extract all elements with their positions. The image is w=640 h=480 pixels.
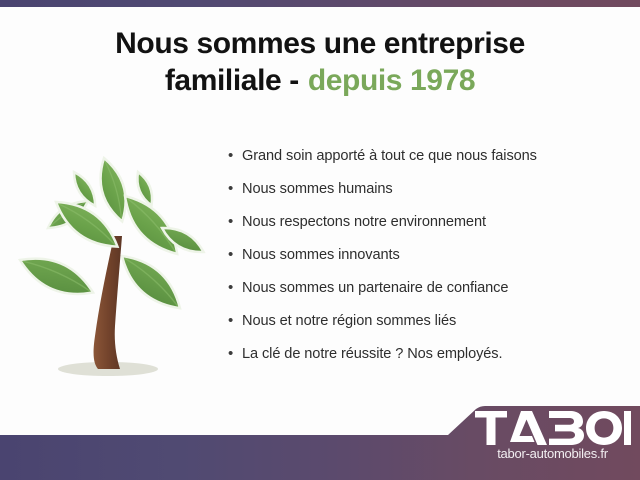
value-bullet-list: • Grand soin apporté à tout ce que nous … [228, 148, 633, 379]
list-item-label: Nous respectons notre environnement [242, 214, 486, 230]
list-item: • Nous respectons notre environnement [228, 214, 633, 247]
bullet-marker-icon: • [228, 214, 242, 229]
headline-plain-part: familiale - [165, 64, 299, 97]
bullet-marker-icon: • [228, 181, 242, 196]
logo-wordmark-tabor [470, 411, 635, 445]
list-item-label: La clé de notre réussite ? Nos employés. [242, 346, 502, 362]
list-item-label: Grand soin apporté à tout ce que nous fa… [242, 148, 537, 164]
list-item: • Nous sommes innovants [228, 247, 633, 280]
slide-canvas: Nous sommes une entreprise familiale -de… [0, 0, 640, 480]
headline-accent-part: depuis 1978 [308, 64, 475, 97]
headline-line-2: familiale -depuis 1978 [0, 63, 640, 100]
list-item-label: Nous sommes innovants [242, 247, 400, 263]
tree-illustration [12, 150, 212, 390]
page-title: Nous sommes une entreprise familiale -de… [0, 26, 640, 99]
headline-line-1: Nous sommes une entreprise [0, 26, 640, 63]
top-accent-bar [0, 0, 640, 7]
list-item-label: Nous sommes un partenaire de confiance [242, 280, 508, 296]
list-item: • Nous et notre région sommes liés [228, 313, 633, 346]
logo-domain-text: tabor-automobiles.fr [470, 446, 635, 461]
list-item-label: Nous sommes humains [242, 181, 393, 197]
list-item: • Nous sommes un partenaire de confiance [228, 280, 633, 313]
list-item: • Grand soin apporté à tout ce que nous … [228, 148, 633, 181]
bullet-marker-icon: • [228, 148, 242, 163]
list-item-label: Nous et notre région sommes liés [242, 313, 456, 329]
bullet-marker-icon: • [228, 280, 242, 295]
tree-trunk [94, 236, 122, 369]
bullet-marker-icon: • [228, 247, 242, 262]
bullet-marker-icon: • [228, 313, 242, 328]
bullet-marker-icon: • [228, 346, 242, 361]
list-item: • Nous sommes humains [228, 181, 633, 214]
list-item: • La clé de notre réussite ? Nos employé… [228, 346, 633, 379]
brand-logo[interactable]: tabor-automobiles.fr [470, 411, 635, 461]
